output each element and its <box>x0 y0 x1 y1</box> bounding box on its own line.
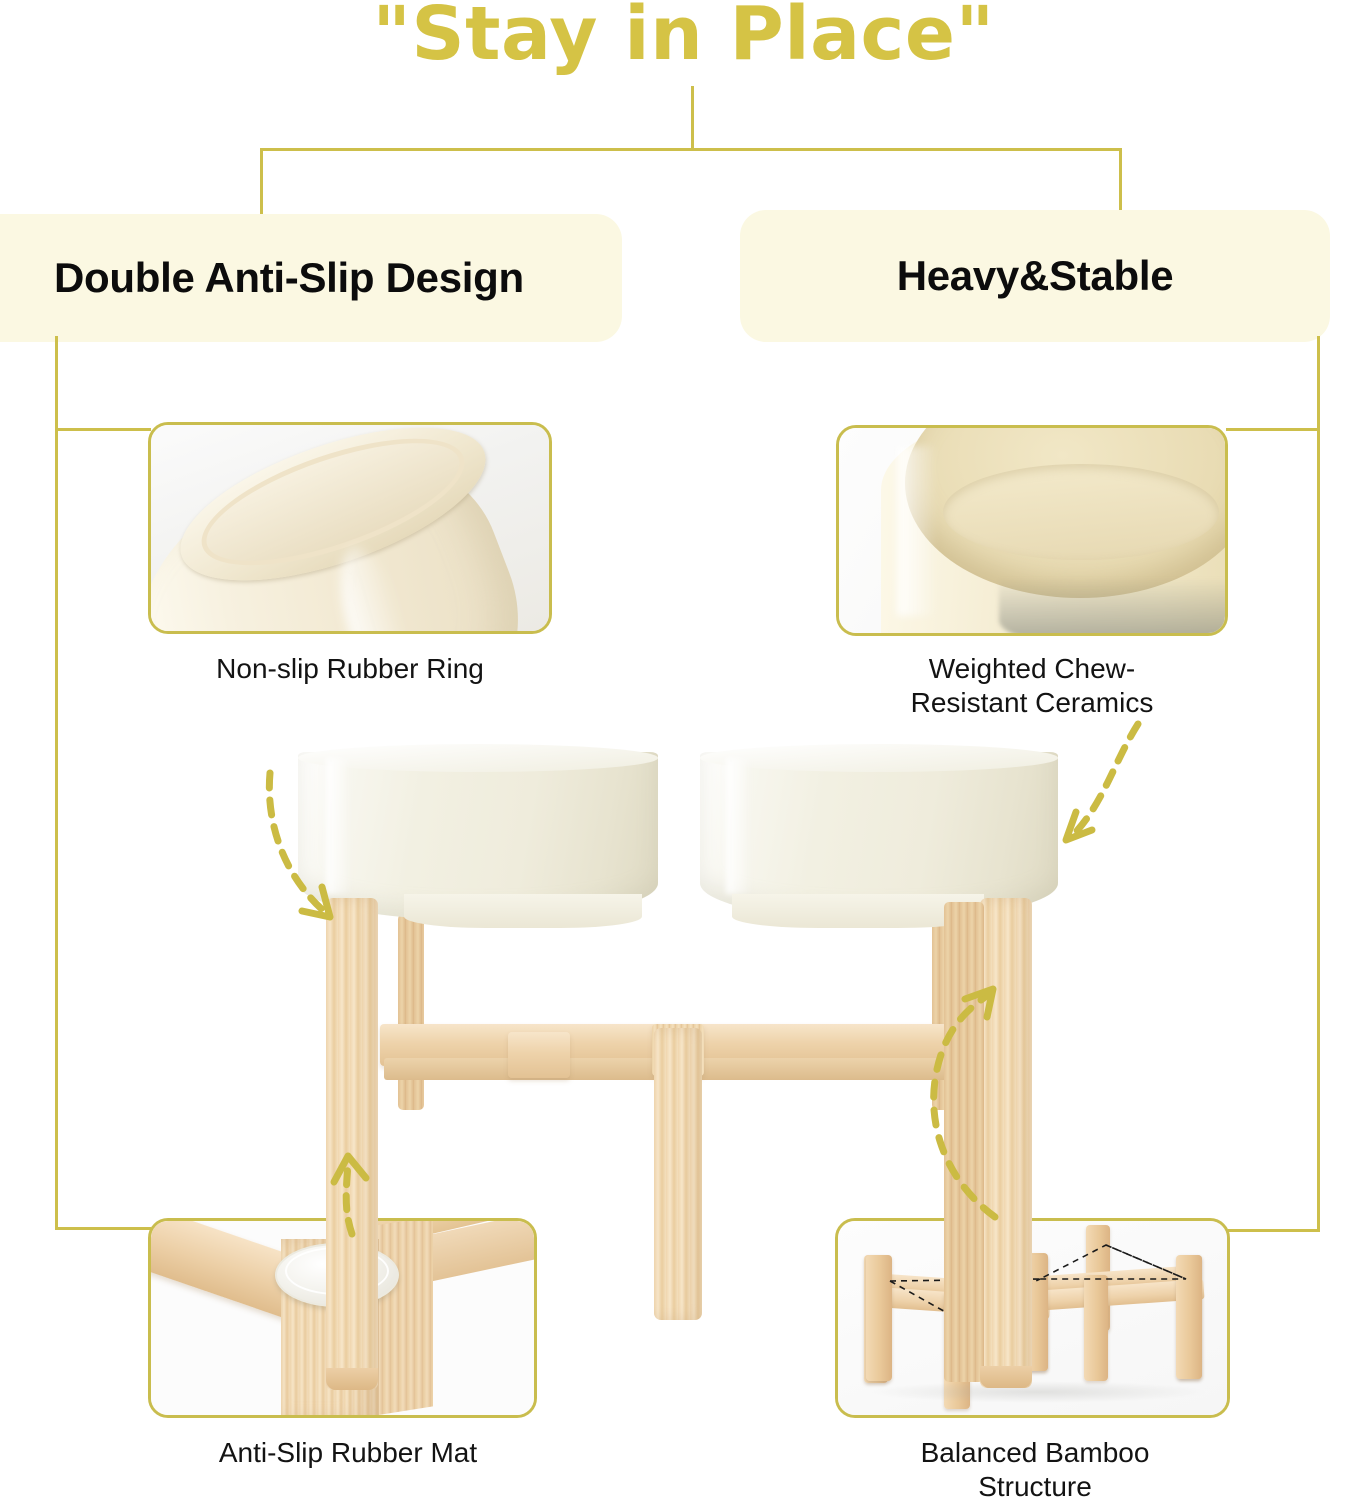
arrow-to-bowl-wall <box>1030 718 1180 868</box>
bowl-floor <box>943 464 1219 560</box>
connector-right-bottom-branch <box>1228 1229 1320 1232</box>
bamboo-leg-right-foot <box>980 1366 1032 1388</box>
connector-drop-right <box>1119 148 1122 210</box>
arrow-shaft <box>934 993 995 1217</box>
photo-weighted-chew-resistant-ceramics <box>836 425 1228 636</box>
connector-left-bottom-branch <box>55 1227 151 1230</box>
connector-left-top-branch <box>55 428 151 431</box>
connector-right-spine <box>1317 336 1320 1232</box>
connector-title-stem <box>691 86 694 150</box>
page-title: "Stay in Place" <box>0 0 1367 75</box>
caption-line-1: Balanced Bamboo <box>855 1436 1215 1470</box>
ceramic-bowl-right-rim <box>700 744 1058 772</box>
bamboo-rear-leg-left <box>398 914 424 1110</box>
caption-balanced-bamboo-structure: Balanced Bamboo Structure <box>855 1436 1215 1500</box>
bamboo-center-post <box>654 1028 702 1320</box>
infographic-page: "Stay in Place" Double Anti-Slip Design … <box>0 0 1367 1500</box>
caption-anti-slip-rubber-mat: Anti-Slip Rubber Mat <box>118 1436 578 1470</box>
glaze-highlight <box>897 446 937 616</box>
heading-heavy-and-stable: Heavy&Stable <box>740 210 1330 342</box>
heading-label: Heavy&Stable <box>897 252 1174 300</box>
ceramic-bowl-left-foot <box>404 894 642 928</box>
connector-left-spine <box>55 336 58 1230</box>
connector-drop-left <box>260 148 263 216</box>
stand-drop-shadow <box>868 1381 1208 1403</box>
ceramic-bowl-right-highlight <box>726 758 752 894</box>
arrow-to-bowl-base <box>240 765 380 935</box>
heading-label: Double Anti-Slip Design <box>54 254 524 302</box>
photo-non-slip-rubber-ring <box>148 422 552 634</box>
bamboo-beam-joint-left <box>508 1032 570 1078</box>
caption-line-1: Weighted Chew- <box>862 652 1202 686</box>
caption-non-slip-rubber-ring: Non-slip Rubber Ring <box>120 652 580 686</box>
arrow-shaft <box>269 773 326 913</box>
caption-line-2: Resistant Ceramics <box>862 686 1202 720</box>
photo-balanced-bamboo-structure <box>835 1218 1230 1418</box>
arrow-shaft <box>1074 724 1138 834</box>
bowl-drop-shadow <box>999 578 1228 636</box>
connector-right-top-branch <box>1226 428 1320 431</box>
caption-line-2: Structure <box>855 1470 1215 1500</box>
dashed-balance-line-upper <box>890 1245 1186 1281</box>
bamboo-leg-side-face <box>375 1218 433 1416</box>
connector-horizontal-bus <box>260 148 1122 151</box>
heading-double-anti-slip-design: Double Anti-Slip Design <box>0 214 622 342</box>
bamboo-front-leg-left <box>326 898 378 1390</box>
arrow-to-leg-foot <box>300 1148 410 1240</box>
caption-weighted-chew-resistant-ceramics: Weighted Chew- Resistant Ceramics <box>862 652 1202 719</box>
bamboo-leg-left-foot <box>326 1368 378 1390</box>
arrow-shaft <box>346 1164 352 1234</box>
arrow-to-stand-frame <box>895 955 1075 1230</box>
